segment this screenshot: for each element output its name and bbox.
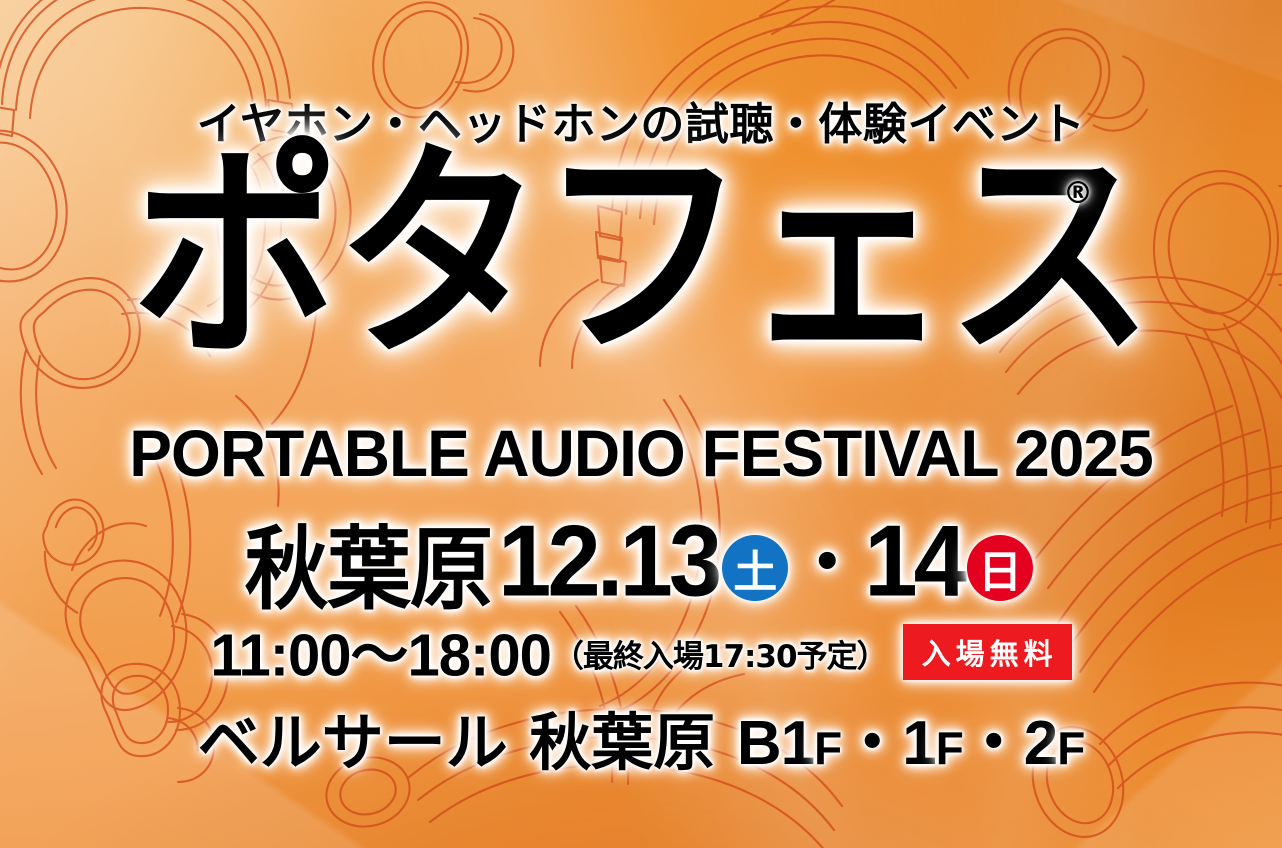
floor-b1: B1 xyxy=(737,709,814,778)
floor-separator-1: ・ xyxy=(841,709,902,778)
venue-line: ベルサール 秋葉原 B1F・1F・2F xyxy=(0,692,1282,782)
venue-floors: B1F・1F・2F xyxy=(737,709,1084,778)
logo-title-kana: ポタフェス xyxy=(132,150,1150,363)
floor-1-suffix: F xyxy=(936,722,963,774)
date-first: 12.13 xyxy=(498,504,718,620)
floor-2: 2 xyxy=(1024,709,1057,778)
weekday-badge-saturday: 土 xyxy=(722,535,788,601)
last-entry-note: （最終入場17:30予定） xyxy=(553,631,887,676)
registered-trademark-icon: ® xyxy=(1063,176,1093,211)
weekday-badge-sunday: 日 xyxy=(967,535,1033,601)
poster-content: イヤホン・ヘッドホンの試聴・体験イベント ポタフェス ® PORTABLE AU… xyxy=(0,0,1282,848)
venue-name: ベルサール 秋葉原 xyxy=(198,706,716,779)
english-subtitle: PORTABLE AUDIO FESTIVAL 2025 xyxy=(19,415,1263,491)
free-admission-badge: 入場無料 xyxy=(903,624,1072,680)
floor-separator-2: ・ xyxy=(963,709,1024,778)
floor-2-suffix: F xyxy=(1057,722,1084,774)
date-separator: ・ xyxy=(790,507,864,608)
poster-canvas: イヤホン・ヘッドホンの試聴・体験イベント ポタフェス ® PORTABLE AU… xyxy=(0,0,1282,848)
date-line: 秋葉原 12.13 土 ・ 14 日 xyxy=(0,502,1282,621)
date-second: 14 xyxy=(864,504,963,620)
floor-1: 1 xyxy=(902,709,935,778)
time-line: 11:00〜18:00 （最終入場17:30予定） 入場無料 xyxy=(0,608,1282,692)
floor-b1-suffix: F xyxy=(814,722,841,774)
opening-hours: 11:00〜18:00 xyxy=(210,607,550,694)
